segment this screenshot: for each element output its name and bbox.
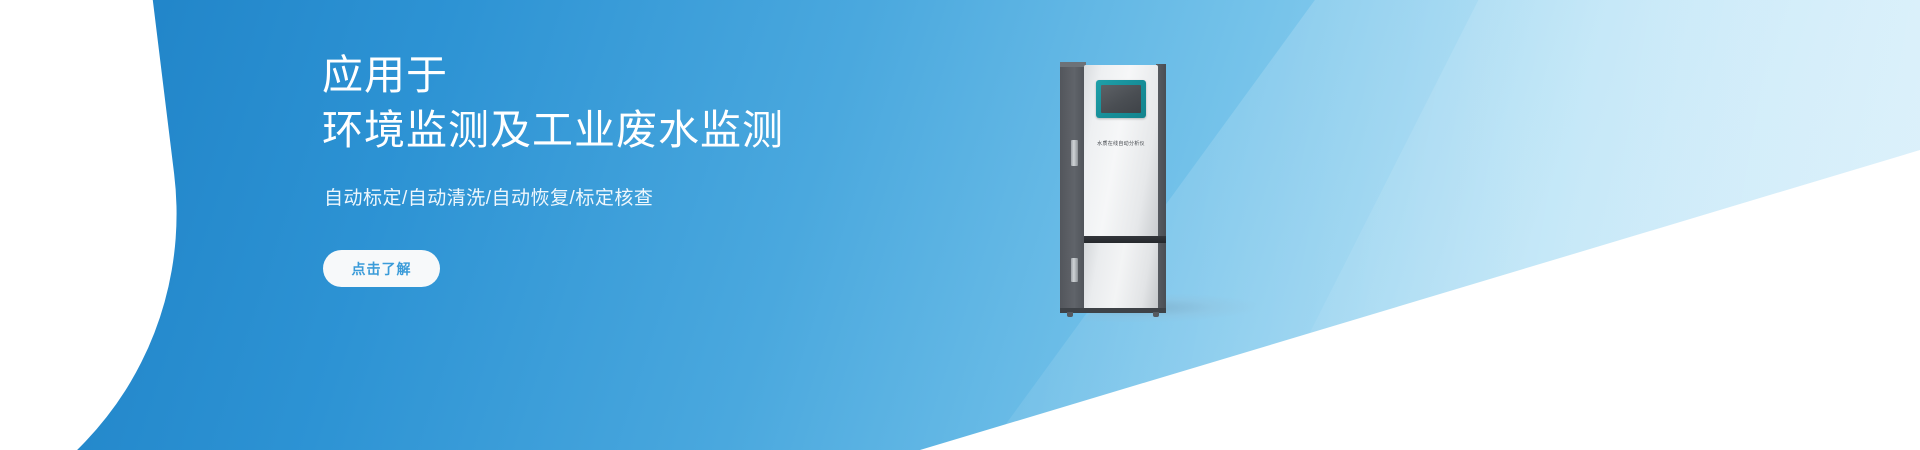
banner-content: 应用于 环境监测及工业废水监测 自动标定/自动清洗/自动恢复/标定核查 点击了解 — [322, 0, 1082, 450]
headline-line-1: 应用于 — [322, 48, 784, 103]
analyzer-screen — [1101, 85, 1141, 113]
cabinet-top-edge — [1060, 62, 1086, 67]
background-white-strip-left — [0, 0, 38, 450]
cabinet-section-divider — [1084, 236, 1166, 243]
learn-more-button[interactable]: 点击了解 — [323, 250, 440, 287]
cabinet-caster-left — [1067, 312, 1073, 317]
cabinet-lower-door — [1084, 242, 1158, 308]
analyzer-display-bezel — [1096, 80, 1146, 118]
banner-headline: 应用于 环境监测及工业废水监测 — [322, 48, 784, 158]
cabinet-handle-upper — [1071, 140, 1078, 166]
headline-line-2: 环境监测及工业废水监测 — [322, 103, 784, 158]
product-image-analyzer: 水质在线自动分析仪 — [1060, 62, 1180, 314]
hero-banner: 应用于 环境监测及工业废水监测 自动标定/自动清洗/自动恢复/标定核查 点击了解… — [0, 0, 1920, 450]
cabinet-caster-right — [1153, 312, 1159, 317]
cabinet-handle-lower — [1071, 258, 1078, 282]
product-front-label: 水质在线自动分析仪 — [1084, 140, 1158, 147]
cabinet-base-plinth — [1060, 308, 1166, 313]
banner-subtitle: 自动标定/自动清洗/自动恢复/标定核查 — [324, 183, 653, 210]
